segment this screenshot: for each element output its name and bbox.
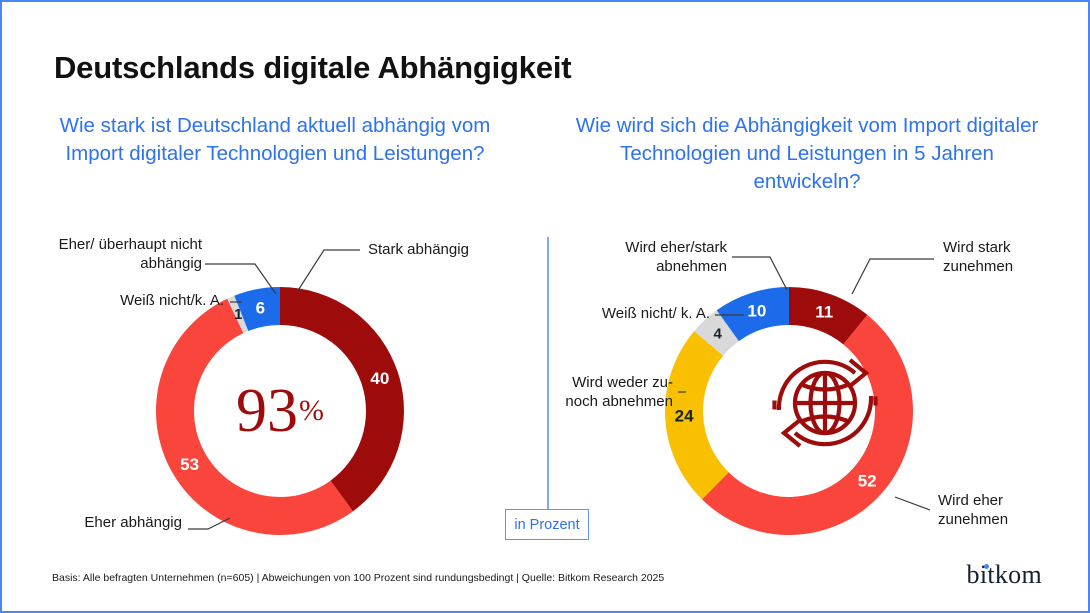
label-weder-zu-noch-abnehmen: Wird weder zu- noch abnehmen [558, 373, 673, 411]
bitkom-logo-text: bitkom [967, 560, 1042, 589]
donut-slice-value: 6 [256, 298, 265, 317]
donut-slice [280, 287, 404, 511]
bitkom-logo: bitkom [967, 562, 1042, 588]
donut-slice-value: 52 [858, 472, 877, 491]
donut-slice-value: 1 [234, 306, 242, 323]
donut-slice-value: 24 [675, 406, 694, 425]
donut-slice-value: 53 [180, 455, 199, 474]
question-heading-right: Wie wird sich die Abhängigkeit vom Impor… [572, 112, 1042, 196]
label-eher-stark-abnehmen: Wird eher/stark abnehmen [582, 238, 727, 276]
label-nicht-abhaengig: Eher/ überhaupt nicht abhängig [42, 235, 202, 273]
label-weiss-nicht-left: Weiß nicht/k. A. [62, 291, 224, 310]
label-weiss-nicht-right: Weiß nicht/ k. A. [567, 304, 710, 323]
donut-slice [702, 315, 913, 535]
donut-slice-value: 4 [714, 325, 723, 342]
label-eher-abhaengig: Eher abhängig [30, 513, 182, 532]
question-heading-left: Wie stark ist Deutschland aktuell abhäng… [50, 112, 500, 168]
column-divider [547, 237, 549, 509]
label-stark-zunehmen: Wird stark zunehmen [943, 238, 1073, 276]
donut-left-svg: 405316 [152, 283, 408, 539]
infographic-page: Deutschlands digitale Abhängigkeit Wie s… [0, 0, 1090, 613]
bitkom-logo-dot-icon [984, 564, 989, 569]
unit-badge: in Prozent [505, 509, 589, 540]
donut-slice-value: 11 [815, 303, 833, 322]
donut-chart-left: 405316 [152, 283, 408, 539]
label-eher-zunehmen: Wird eher zunehmen [938, 491, 1068, 529]
page-title: Deutschlands digitale Abhängigkeit [54, 50, 571, 86]
donut-slice-value: 10 [747, 302, 766, 321]
footer-source-note: Basis: Alle befragten Unternehmen (n=605… [52, 572, 664, 584]
donut-slice-value: 40 [370, 369, 389, 388]
label-stark-abhaengig: Stark abhängig [368, 240, 548, 259]
